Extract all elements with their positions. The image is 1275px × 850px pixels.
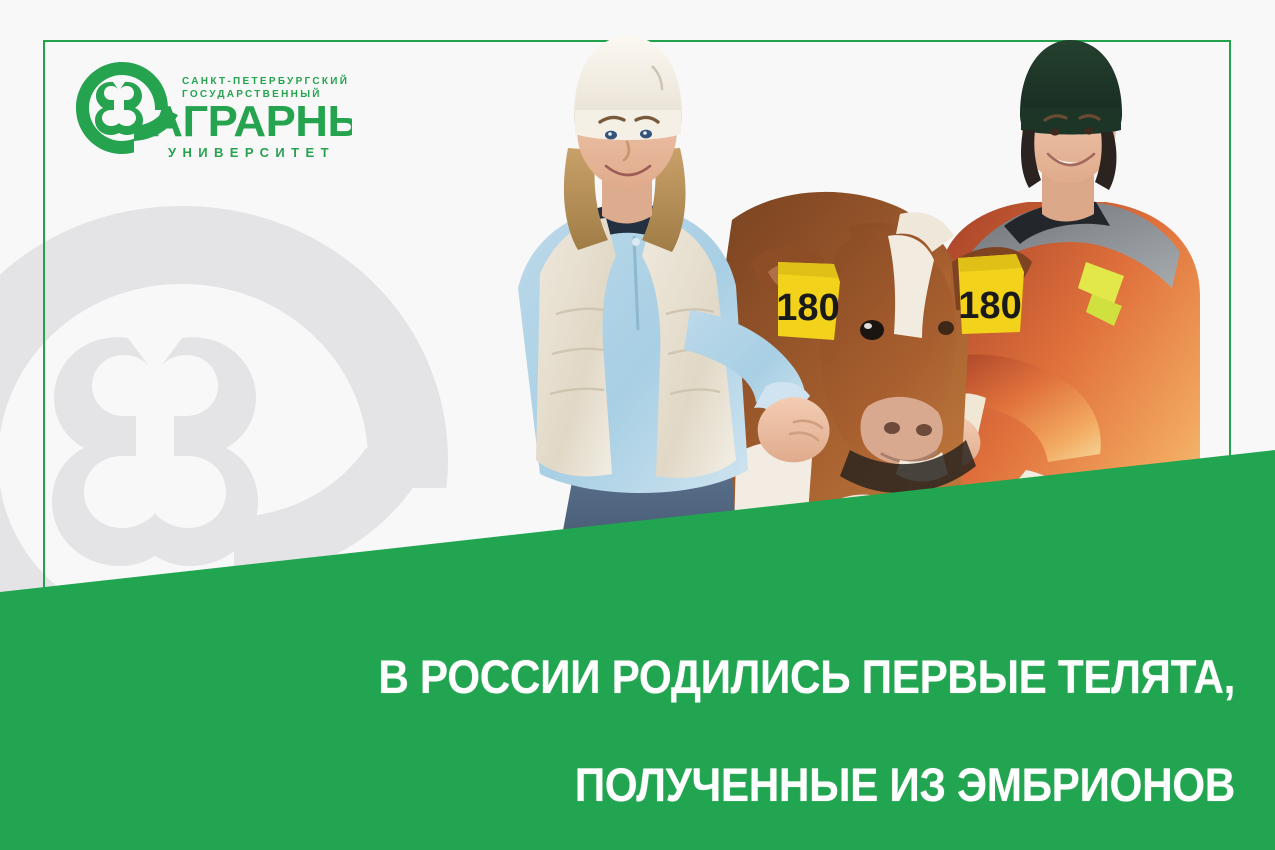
logo-line-small-1: САНКТ-ПЕТЕРБУРГСКИЙ xyxy=(182,74,349,87)
ear-tag-right: 180 xyxy=(958,254,1024,334)
headline-line-2: ПОЛУЧЕННЫЕ ИЗ ЭМБРИОНОВ xyxy=(286,758,1236,812)
news-card: 180 180 xyxy=(0,0,1275,850)
ear-tag-right-value: 180 xyxy=(958,285,1021,327)
logo-line-bottom: УНИВЕРСИТЕТ xyxy=(168,145,335,160)
ear-tag-left: 180 xyxy=(776,262,840,340)
ear-tag-left-value: 180 xyxy=(776,287,839,329)
headline-line-1: В РОССИИ РОДИЛИСЬ ПЕРВЫЕ ТЕЛЯТА, xyxy=(286,650,1236,704)
headline: В РОССИИ РОДИЛИСЬ ПЕРВЫЕ ТЕЛЯТА, ПОЛУЧЕН… xyxy=(286,596,1236,850)
photo-two-women-with-calf: 180 180 xyxy=(380,30,1200,590)
logo-line-big: АГРАРНЫЙ xyxy=(150,96,352,146)
university-logo[interactable]: САНКТ-ПЕТЕРБУРГСКИЙ ГОСУДАРСТВЕННЫЙ АГРА… xyxy=(72,58,352,170)
